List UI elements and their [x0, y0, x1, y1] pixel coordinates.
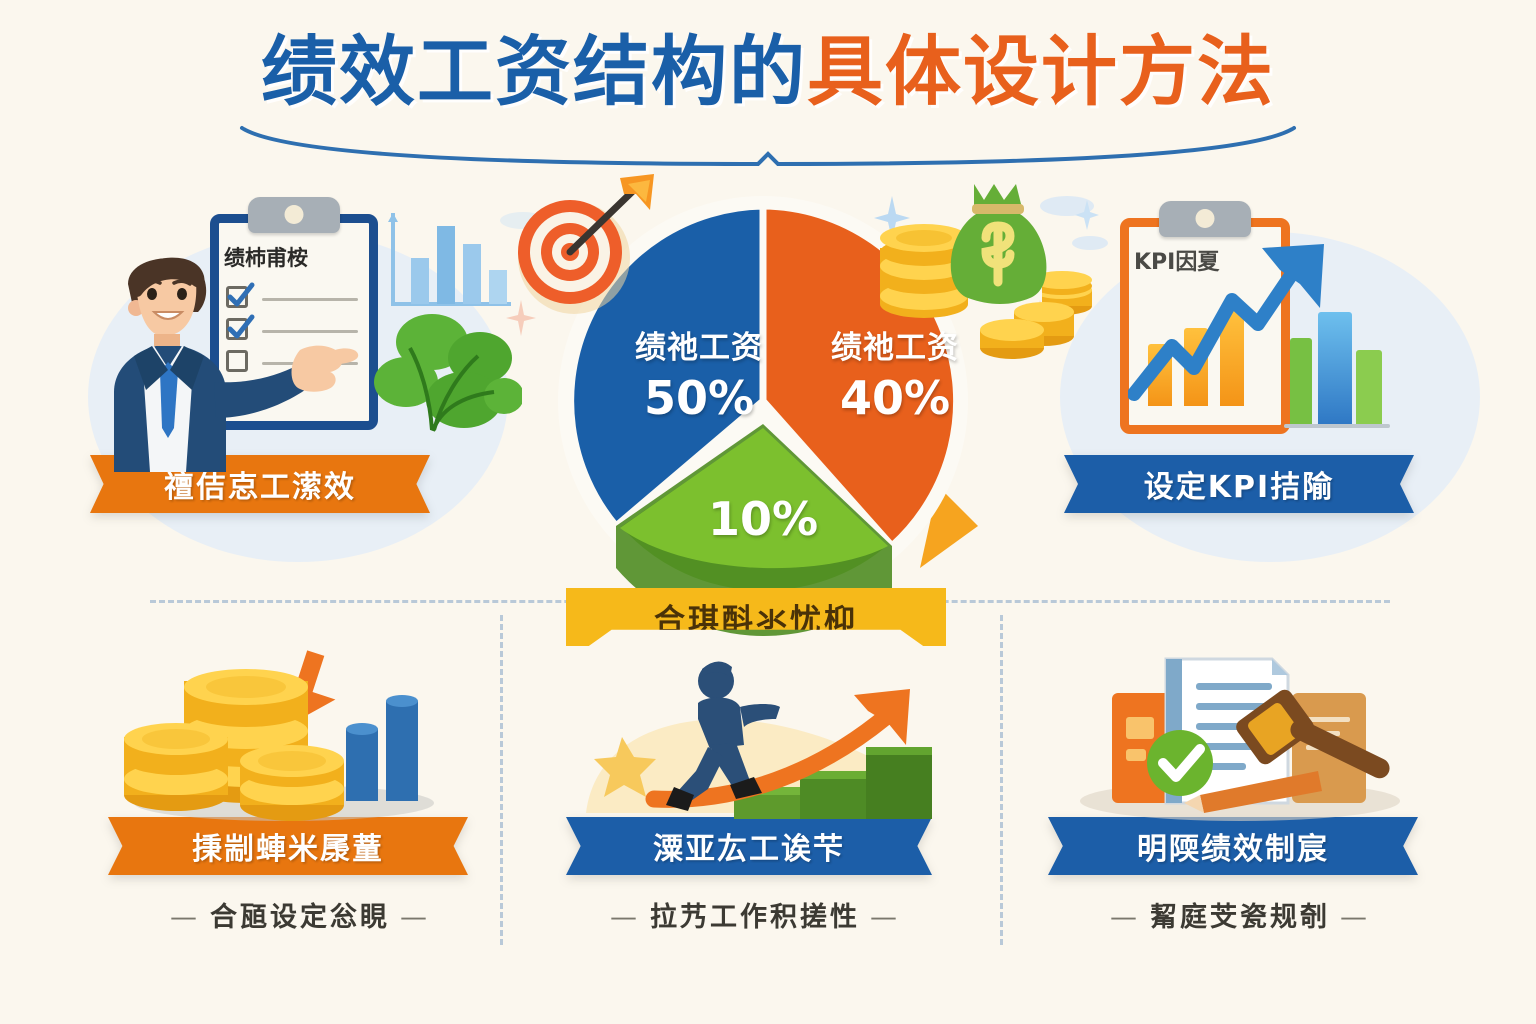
infographic-canvas: 绩效工资结构的具体设计方法	[0, 0, 1536, 1024]
caption-text: 拉艿工作积搓性	[650, 902, 860, 933]
banner-label: 设定KPI拮隃	[1064, 455, 1414, 513]
banner-label: 㨀剬蛼米㞙蕫	[108, 817, 468, 875]
banner-pie-caption[interactable]: 合琪酙氺忧枊	[566, 588, 946, 646]
banner-label: 明陾绩效制宸	[1048, 817, 1418, 875]
page-title-primary: 绩效工资结构的	[261, 27, 807, 116]
bar-baseline	[1284, 424, 1390, 428]
clipboard-clip	[248, 197, 340, 233]
caption-dash-left: —	[160, 902, 210, 933]
banner-label: 合琪酙氺忧枊	[566, 588, 946, 646]
plant-leaves-icon	[372, 300, 522, 450]
title-underline-decoration	[238, 124, 1298, 170]
bar-green-front	[1356, 350, 1382, 426]
target-arrow-icon	[508, 172, 658, 322]
pie-slice-label-orange: 绩祂工资 40%	[780, 322, 1010, 425]
panel-performance-review[interactable]: 绩杮甫桉	[90, 190, 510, 520]
growth-arrow-icon	[1128, 238, 1348, 408]
caption-rules: —觢庭芠瓷规剞—	[1020, 895, 1460, 934]
pie-slice-name: 绩祂工资	[780, 322, 1010, 367]
vertical-divider-right	[1000, 615, 1003, 945]
caption-salary-base: —合瓸设定忩睍—	[90, 895, 510, 934]
panel-salary-base[interactable]: 㨀剬蛼米㞙蕫 —合瓸设定忩睍—	[90, 645, 510, 945]
coin-stacks-down-arrow-icon	[124, 645, 444, 825]
banner-rules[interactable]: 明陾绩效制宸	[1048, 817, 1418, 875]
businessman-illustration	[90, 242, 360, 472]
caption-dash-right: —	[390, 902, 440, 933]
panel-kpi-setting[interactable]: KPI因夏 设定KPI拮隃	[1050, 190, 1480, 520]
mini-bar-chart-icon	[385, 208, 515, 313]
pie-slice-value: 40%	[780, 371, 1010, 425]
panel-rules[interactable]: 明陾绩效制宸 —觢庭芠瓷规剞—	[1020, 645, 1460, 945]
panel-motivation[interactable]: 潥亚厷工诶芐 —拉艿工作积搓性—	[540, 645, 970, 945]
banner-kpi-setting[interactable]: 设定KPI拮隃	[1064, 455, 1414, 513]
person-climbing-steps-icon	[558, 653, 958, 833]
caption-dash-right: —	[860, 902, 910, 933]
banner-salary-base[interactable]: 㨀剬蛼米㞙蕫	[108, 817, 468, 875]
pie-slice-value: 10%	[678, 492, 848, 546]
caption-text: 觢庭芠瓷规剞	[1150, 902, 1330, 933]
document-gavel-check-icon	[1050, 645, 1430, 825]
caption-text: 合瓸设定忩睍	[210, 902, 390, 933]
gold-coins-icon	[978, 282, 1078, 362]
pie-slice-label-green: 10%	[678, 488, 848, 546]
caption-dash-right: —	[1330, 902, 1380, 933]
clipboard-clip	[1159, 201, 1251, 237]
caption-motivation: —拉艿工作积搓性—	[540, 895, 970, 934]
caption-dash-left: —	[600, 902, 650, 933]
page-title: 绩效工资结构的具体设计方法	[0, 34, 1536, 110]
page-title-accent: 具体设计方法	[807, 27, 1275, 116]
caption-dash-left: —	[1100, 902, 1150, 933]
